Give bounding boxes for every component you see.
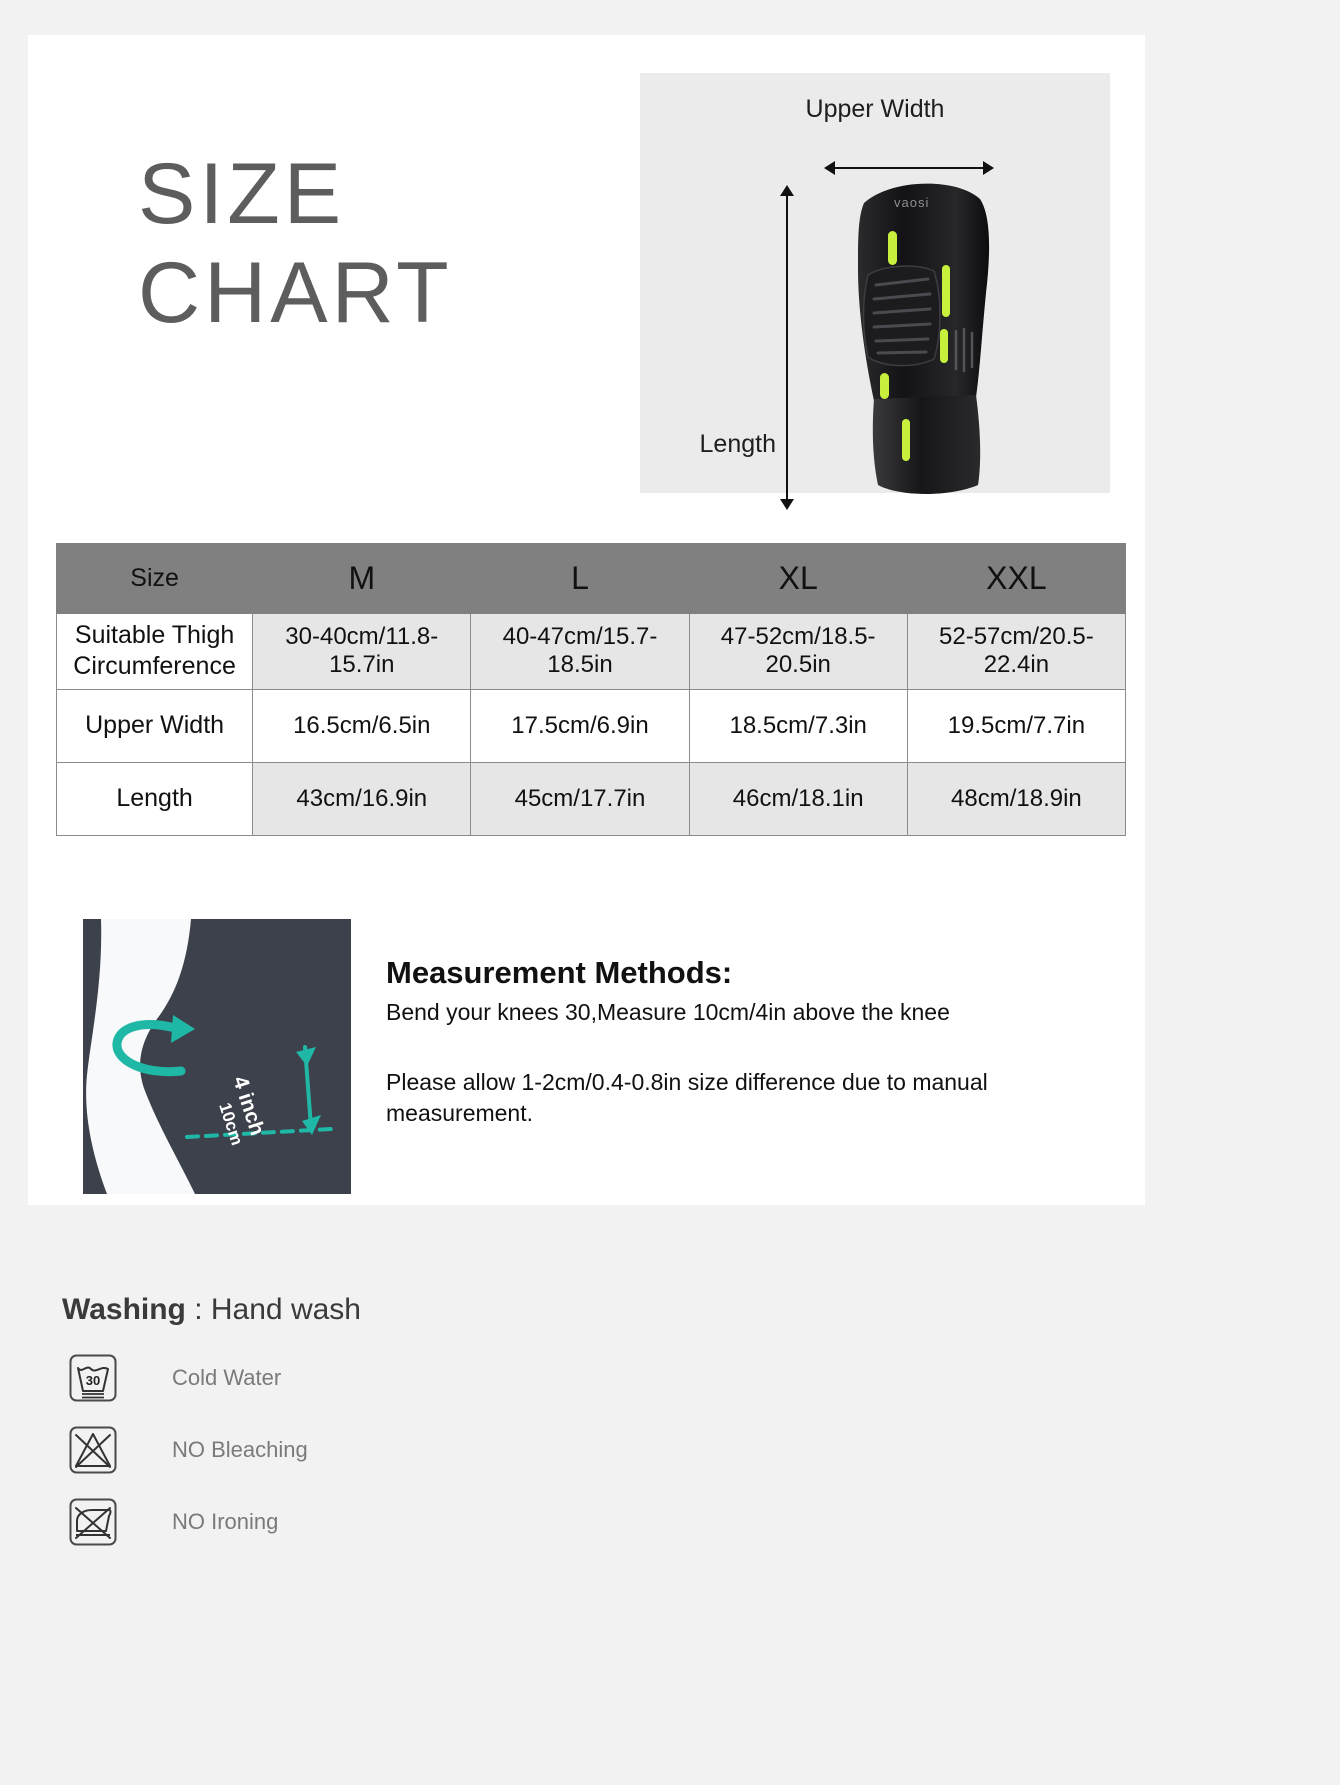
table-header-row: Size M L XL XXL (57, 544, 1126, 614)
cell-upper-xl: 18.5cm/7.3in (689, 689, 907, 762)
washing-title-bold: Washing (62, 1293, 186, 1326)
length-dimension-label: Length (646, 430, 776, 459)
washing-title-rest: : Hand wash (186, 1293, 361, 1326)
table-row: Length 43cm/16.9in 45cm/17.7in 46cm/18.1… (57, 762, 1126, 835)
care-item-cold-water: 30 Cold Water (68, 1353, 281, 1403)
row-label-thigh-circumference: Suitable Thigh Circumference (57, 614, 253, 690)
cell-upper-m: 16.5cm/6.5in (253, 689, 471, 762)
no-iron-icon (68, 1497, 118, 1547)
measurement-heading: Measurement Methods: (386, 953, 1026, 993)
brand-label: vaosi (894, 195, 929, 210)
upper-width-dimension-label: Upper Width (640, 95, 1110, 124)
care-label-cold-water: Cold Water (172, 1365, 281, 1391)
care-label-no-bleaching: NO Bleaching (172, 1437, 308, 1463)
size-chart-table: Size M L XL XXL Suitable Thigh Circumfer… (56, 543, 1126, 836)
measurement-illustration: 4 inch 10cm (83, 919, 351, 1194)
title-line-2: CHART (138, 244, 618, 343)
care-item-no-ironing: NO Ironing (68, 1497, 278, 1547)
no-bleach-icon (68, 1425, 118, 1475)
table-row: Suitable Thigh Circumference 30-40cm/11.… (57, 614, 1126, 690)
length-arrow-icon: Length (780, 185, 794, 510)
size-chart-page: SIZE CHART Upper Width Length (0, 0, 1340, 1785)
measurement-paragraph-1: Bend your knees 30,Measure 10cm/4in abov… (386, 995, 1026, 1031)
care-item-no-bleaching: NO Bleaching (68, 1425, 308, 1475)
washing-care-section: Washing : Hand wash 30 Cold Water NO Ble… (0, 1205, 1340, 1785)
cell-thigh-xl: 47-52cm/18.5-20.5in (689, 614, 907, 690)
header-l: L (471, 544, 689, 614)
main-card: SIZE CHART Upper Width Length (28, 35, 1145, 1205)
row-label-upper-width: Upper Width (57, 689, 253, 762)
knee-pad-image: vaosi (830, 173, 1030, 503)
row-label-length: Length (57, 762, 253, 835)
washing-title: Washing : Hand wash (62, 1293, 361, 1327)
wash-temp-value: 30 (86, 1373, 100, 1388)
cell-thigh-l: 40-47cm/15.7-18.5in (471, 614, 689, 690)
cell-thigh-xxl: 52-57cm/20.5-22.4in (907, 614, 1125, 690)
cell-upper-xxl: 19.5cm/7.7in (907, 689, 1125, 762)
table-row: Upper Width 16.5cm/6.5in 17.5cm/6.9in 18… (57, 689, 1126, 762)
header-xxl: XXL (907, 544, 1125, 614)
measurement-methods-block: Measurement Methods: Bend your knees 30,… (386, 953, 1026, 1129)
measurement-paragraph-2: Please allow 1-2cm/0.4-0.8in size differ… (386, 1067, 1026, 1129)
care-label-no-ironing: NO Ironing (172, 1509, 278, 1535)
cell-upper-l: 17.5cm/6.9in (471, 689, 689, 762)
cell-length-l: 45cm/17.7in (471, 762, 689, 835)
product-image-panel: Upper Width Length (640, 73, 1110, 493)
cell-length-xxl: 48cm/18.9in (907, 762, 1125, 835)
title-line-1: SIZE (138, 145, 618, 244)
header-m: M (253, 544, 471, 614)
cell-length-m: 43cm/16.9in (253, 762, 471, 835)
wash-tub-30-icon: 30 (68, 1353, 118, 1403)
header-xl: XL (689, 544, 907, 614)
cell-thigh-m: 30-40cm/11.8-15.7in (253, 614, 471, 690)
cell-length-xl: 46cm/18.1in (689, 762, 907, 835)
header-size: Size (57, 544, 253, 614)
page-title: SIZE CHART (138, 145, 618, 343)
